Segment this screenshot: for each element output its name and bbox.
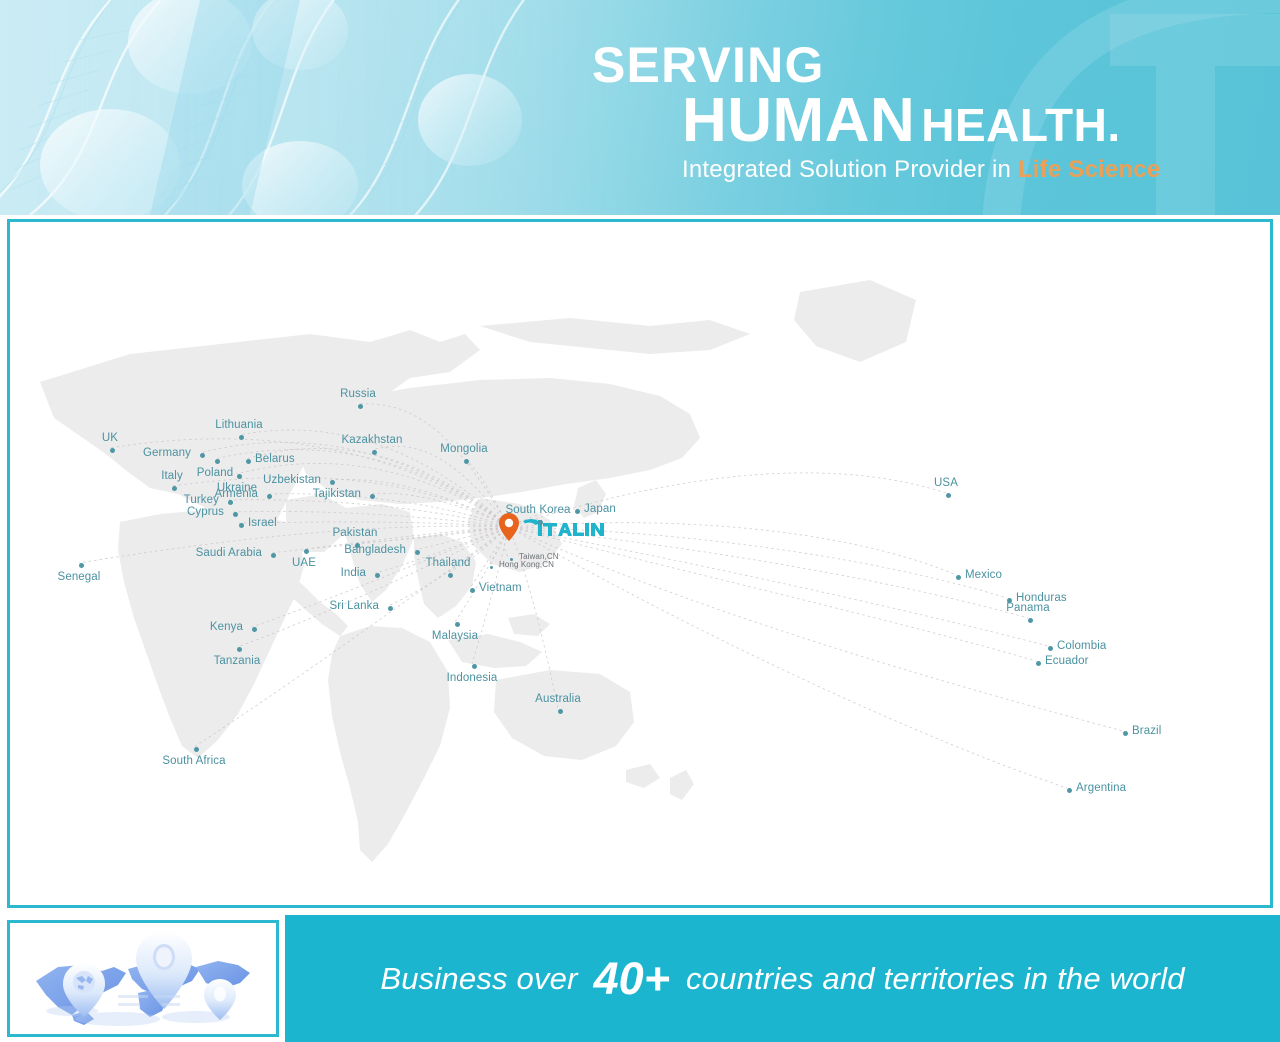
header-subtitle: Integrated Solution Provider in Life Sci…	[682, 156, 1160, 184]
map-dot-icon	[1067, 788, 1072, 793]
map-dot-icon	[946, 493, 951, 498]
map-marker-label: Bangladesh	[344, 544, 406, 556]
map-marker-label: Uzbekistan	[263, 474, 321, 486]
map-marker-label: Pakistan	[333, 527, 378, 539]
footer-text-suffix: countries and territories in the world	[686, 961, 1185, 997]
map-dot-icon	[448, 573, 453, 578]
map-marker-label: Italy	[161, 470, 183, 482]
map-marker-label: Malaysia	[432, 630, 478, 642]
header-banner: SERVING HUMANHEALTH. Integrated Solution…	[0, 0, 1280, 215]
footer-statement: Business over 40+ countries and territor…	[285, 915, 1280, 1042]
world-map-panel: UKGermanyLithuaniaBelarusPolandUkraineRu…	[7, 219, 1273, 908]
map-marker-label: Japan	[584, 503, 616, 515]
map-dot-icon	[239, 523, 244, 528]
map-dot-icon	[464, 459, 469, 464]
map-dot-icon	[470, 588, 475, 593]
map-dot-icon	[237, 474, 242, 479]
map-marker-label: Colombia	[1057, 640, 1106, 652]
hq-marker-tailin[interactable]	[499, 513, 609, 547]
map-marker-label: Poland	[197, 467, 233, 479]
map-canvas: UKGermanyLithuaniaBelarusPolandUkraineRu…	[10, 222, 1270, 905]
map-dot-icon	[415, 550, 420, 555]
map-dot-icon	[330, 480, 335, 485]
map-marker-label: Sri Lanka	[330, 600, 379, 612]
map-dot-icon	[228, 500, 233, 505]
map-marker-label: Senegal	[58, 571, 101, 583]
map-dot-icon	[110, 448, 115, 453]
headline-health: HEALTH.	[921, 99, 1120, 151]
map-dot-icon	[375, 573, 380, 578]
map-marker-label: India	[341, 567, 366, 579]
map-dot-icon	[304, 549, 309, 554]
map-marker-label: Cyprus	[187, 506, 224, 518]
headline-line-1: SERVING	[592, 40, 825, 90]
subtitle-prefix: Integrated Solution Provider in	[682, 156, 1018, 183]
map-dot-icon	[172, 486, 177, 491]
map-dot-icon	[271, 553, 276, 558]
footer-bar: Business over 40+ countries and territor…	[285, 915, 1280, 1042]
subtitle-accent: Life Science	[1018, 156, 1160, 183]
map-marker-label: Lithuania	[215, 419, 263, 431]
map-marker-label: Indonesia	[447, 672, 498, 684]
world-map-landmass	[10, 222, 1270, 905]
location-pin-icon	[499, 513, 519, 541]
map-marker-label: Ecuador	[1045, 655, 1089, 667]
map-dot-icon	[358, 404, 363, 409]
map-dot-icon	[372, 450, 377, 455]
map-marker-label: Mongolia	[440, 443, 487, 455]
footer-text-prefix: Business over	[380, 961, 577, 997]
map-dot-icon	[1048, 646, 1053, 651]
map-marker-label: Hong Kong,CN	[499, 560, 554, 569]
map-dot-icon	[252, 627, 257, 632]
headline-line-2: HUMANHEALTH.	[682, 90, 1121, 152]
map-dot-icon	[455, 622, 460, 627]
map-marker-label: Turkey	[184, 494, 219, 506]
headline-human: HUMAN	[682, 86, 915, 155]
map-dot-icon	[233, 512, 238, 517]
map-dot-icon	[1036, 661, 1041, 666]
footer-logo-panel	[7, 920, 279, 1037]
map-dot-icon	[388, 606, 393, 611]
map-marker-label: Brazil	[1132, 725, 1161, 737]
world-map-pins-illustration	[10, 923, 276, 1034]
page-root: SERVING HUMANHEALTH. Integrated Solution…	[0, 0, 1280, 1042]
map-marker-label: Israel	[248, 517, 277, 529]
map-dot-icon	[246, 459, 251, 464]
map-marker-label: Saudi Arabia	[196, 547, 262, 559]
map-marker-label: South Africa	[162, 755, 225, 767]
map-marker-label: UK	[102, 432, 118, 444]
header-text-block: SERVING HUMANHEALTH. Integrated Solution…	[0, 0, 1280, 215]
map-dot-icon	[237, 647, 242, 652]
map-dot-icon	[79, 563, 84, 568]
map-dot-icon	[1028, 618, 1033, 623]
map-marker-label: Tajikistan	[313, 488, 361, 500]
map-dot-icon	[490, 566, 493, 569]
map-marker-label: Australia	[535, 693, 581, 705]
map-dot-icon	[370, 494, 375, 499]
map-marker-label: Argentina	[1076, 782, 1126, 794]
map-marker-label: Russia	[340, 388, 376, 400]
map-marker-label: Kazakhstan	[341, 434, 402, 446]
map-marker-label: Tanzania	[214, 655, 261, 667]
map-dot-icon	[200, 453, 205, 458]
footer: Business over 40+ countries and territor…	[0, 915, 1280, 1042]
map-marker-label: Germany	[143, 447, 191, 459]
map-dot-icon	[956, 575, 961, 580]
tailin-logo	[521, 517, 605, 539]
map-marker-label: Mexico	[965, 569, 1002, 581]
map-dot-icon	[239, 435, 244, 440]
map-dot-icon	[558, 709, 563, 714]
map-dot-icon	[538, 520, 543, 525]
map-marker-label: USA	[934, 477, 958, 489]
map-dot-icon	[472, 664, 477, 669]
map-dot-icon	[215, 459, 220, 464]
map-dot-icon	[1123, 731, 1128, 736]
map-dot-icon	[194, 747, 199, 752]
map-marker-label: Belarus	[255, 453, 295, 465]
map-marker-label: Kenya	[210, 621, 243, 633]
map-dot-icon	[267, 494, 272, 499]
map-marker-label: Vietnam	[479, 582, 522, 594]
map-marker-label: Panama	[1006, 602, 1049, 614]
map-marker-label: UAE	[292, 557, 316, 569]
map-marker-label: Armenia	[214, 488, 258, 500]
map-dot-icon	[575, 509, 580, 514]
footer-country-count: 40+	[594, 953, 670, 1005]
map-marker-label: Thailand	[426, 557, 471, 569]
map-marker-label: South Korea	[505, 504, 570, 516]
